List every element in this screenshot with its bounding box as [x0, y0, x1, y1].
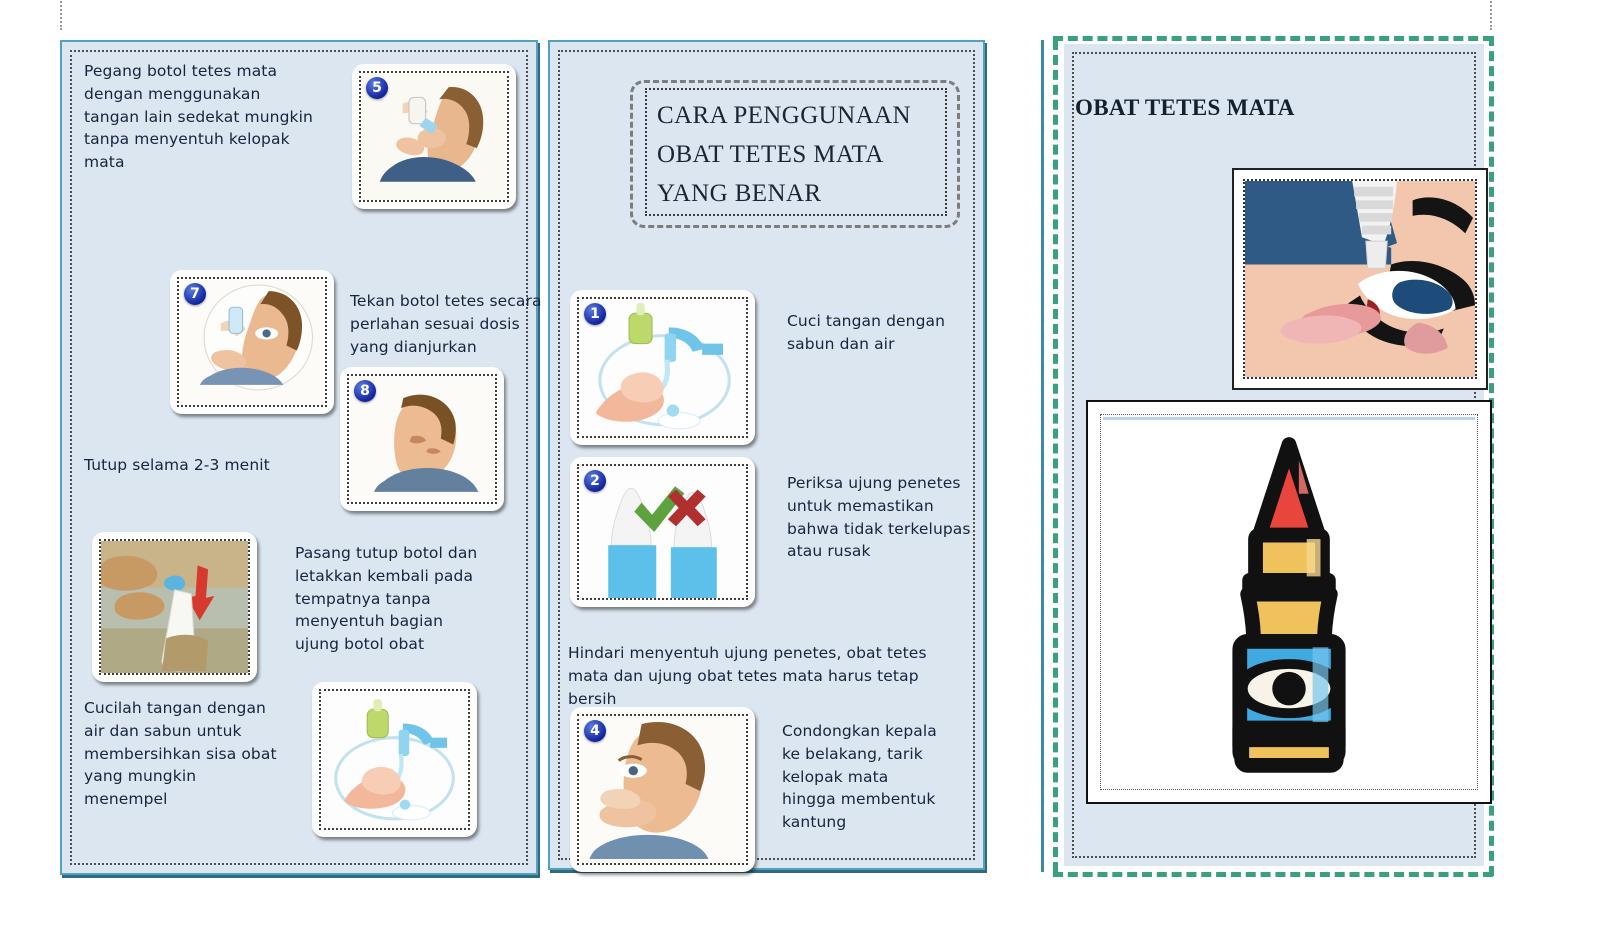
right-panel-photo-frame: [1232, 168, 1488, 390]
left-step-5-text: Pegang botol tetes mata dengan menggunak…: [84, 60, 359, 174]
title-line-1: CARA PENGGUNAAN: [657, 97, 945, 136]
step-badge: 2: [584, 470, 606, 492]
right-panel-green-dash-left: [1053, 40, 1058, 872]
right-panel-heading: OBAT TETES MATA: [1075, 95, 1295, 121]
eye-drop-bottle-icon: [1101, 415, 1477, 789]
step-badge: 5: [366, 77, 388, 99]
right-panel-bottle: [1100, 414, 1478, 790]
tilt-head-pull-eyelid-icon: [579, 716, 746, 863]
panel-left: Pegang botol tetes mata dengan menggunak…: [60, 40, 538, 875]
left-step-cap-thumb: [92, 532, 257, 682]
right-panel-bottle-frame: [1086, 400, 1492, 804]
left-step-wash-text: Cucilah tangan dengan air dan sabun untu…: [84, 697, 339, 811]
title-line-3: YANG BENAR: [657, 175, 945, 214]
mid-step-1-text: Cuci tangan dengan sabun dan air: [787, 310, 987, 356]
handwashing-icon: [321, 691, 468, 828]
left-step-8-text: Tutup selama 2-3 menit: [84, 454, 364, 477]
left-step-5-thumb: 5: [352, 64, 516, 209]
left-step-cap-image: [99, 539, 250, 675]
left-step-cap-text: Pasang tutup botol dan letakkan kembali …: [295, 542, 520, 656]
mid-note-text: Hindari menyentuh ujung penetes, obat te…: [568, 642, 988, 710]
mid-step-1-thumb: 1: [570, 290, 755, 445]
left-step-8-image: 8: [347, 374, 497, 504]
right-panel-green-dash-bottom: [1053, 872, 1493, 877]
mid-step-2-text: Periksa ujung penetes untuk memastikan b…: [787, 472, 992, 563]
step-badge: 1: [584, 303, 606, 325]
right-panel-green-dash-top: [1053, 36, 1493, 41]
step-badge: 8: [354, 380, 376, 402]
left-step-wash-thumb: [312, 682, 477, 837]
left-step-5-image: 5: [359, 71, 509, 202]
left-step-7-thumb: 7: [170, 270, 334, 414]
step-badge: 7: [184, 283, 206, 305]
mid-step-2-image: 2: [577, 464, 748, 600]
replace-cap-icon: [101, 541, 248, 673]
mid-step-4-image: 4: [577, 714, 748, 865]
left-step-wash-image: [319, 689, 470, 830]
right-panel-photo: [1243, 179, 1477, 379]
title-box: CARA PENGGUNAAN OBAT TETES MATA YANG BEN…: [645, 88, 947, 216]
mid-step-4-thumb: 4: [570, 707, 755, 872]
left-step-7-text: Tekan botol tetes secara perlahan sesuai…: [350, 290, 580, 358]
title-line-2: OBAT TETES MATA: [657, 136, 945, 175]
mid-step-4-text: Condongkan kepala ke belakang, tarik kel…: [782, 720, 987, 834]
eye-drop-into-eye-illustration: [1245, 181, 1475, 377]
mid-step-1-image: 1: [577, 297, 748, 438]
left-step-7-image: 7: [177, 277, 327, 407]
brochure-canvas: Pegang botol tetes mata dengan menggunak…: [0, 0, 1600, 931]
step-badge: 4: [584, 720, 606, 742]
right-panel-teal-rule: [1041, 40, 1044, 872]
mid-step-2-thumb: 2: [570, 457, 755, 607]
left-step-8-thumb: 8: [340, 367, 504, 511]
